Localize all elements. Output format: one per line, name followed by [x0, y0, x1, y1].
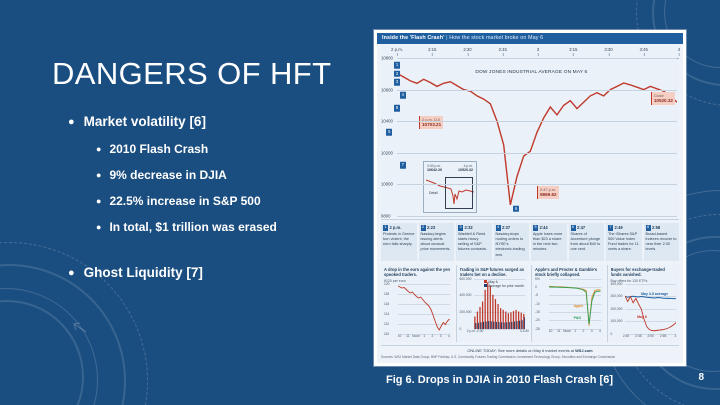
list-item: ● Ghost Liquidity [7] — [62, 265, 372, 280]
annotation-header: 22:23 — [421, 225, 453, 231]
y-tick-label: 110 — [384, 332, 389, 336]
decorative-circle — [0, 288, 98, 405]
y-tick-label: -20 — [535, 318, 540, 322]
y-tick-label: 114 — [384, 312, 389, 316]
sub-panel-x-axis: 2 p.m.-2:303-3:30 — [474, 329, 527, 336]
y-tick-label: 0 — [611, 332, 613, 336]
x-tick-label: 2:55 — [660, 334, 666, 338]
annotation-time: 2:47 — [577, 225, 585, 230]
bullet-dot-icon: ● — [96, 171, 101, 180]
x-tick-label: 11 — [406, 334, 409, 338]
gridline — [397, 153, 677, 154]
infographic-header-subtitle: How the stock market broke on May 6 — [449, 35, 543, 41]
list-item-label: 22.5% increase in S&P 500 — [109, 194, 372, 208]
x-tick-label: 2 — [583, 329, 585, 333]
y-tick-label: -15 — [535, 310, 540, 314]
sub-panel-x-axis: 1011Noon1234 — [549, 329, 602, 336]
sub-panel-plot: 400,000300,000200,000100,0000May 3-5 ave… — [611, 284, 678, 334]
annotation-card: 82:58Broad-based indexes recover to near… — [644, 223, 680, 261]
bullet-dot-icon: ● — [96, 223, 101, 232]
annotation-card: 32:32Waddell & Reed starts heavy selling… — [456, 223, 492, 261]
y-tick-label: 10200 — [381, 150, 393, 155]
x-tick-label: 2 p.m. — [391, 47, 403, 52]
footer-link: WSJ.com — [575, 348, 593, 353]
x-tick-label: 3 — [537, 47, 539, 52]
callout-close-value: 10520.32 — [654, 98, 673, 104]
y-tick-label: 100,000 — [611, 319, 623, 323]
bullet-dot-icon: ● — [68, 117, 75, 128]
list-item-label: In total, $1 trillion was erased — [109, 220, 372, 234]
annotation-card: 52:44Apple loses more than $23 a share i… — [531, 223, 567, 261]
y-tick-label: -5 — [535, 293, 538, 297]
legend: May 6Average for prior month — [484, 280, 524, 289]
sub-panel: Trading in S&P futures surged as traders… — [456, 265, 529, 342]
annotation-header: 72:49 — [608, 225, 640, 231]
sub-panel-title: A drop in the euro against the yen spook… — [384, 267, 451, 278]
chart-inset-detail: 3:30 p.m. 10642.20 4 p.m. 10520.32 Detai… — [423, 161, 477, 213]
inset-right-value: 10520.32 — [458, 168, 473, 172]
bullet-dot-icon: ● — [96, 197, 101, 206]
gridline — [397, 216, 677, 217]
x-tick-label: 2:45 — [499, 47, 507, 52]
sub-panel-plot: 120118116114112110 — [384, 284, 451, 334]
bullet-dot-icon: ● — [96, 145, 101, 154]
annotation-card: 12 p.m.Protests in Greece turn violent, … — [381, 223, 417, 261]
list-item: ● 9% decrease in DJIA — [62, 168, 372, 182]
y-tick-label: -25 — [535, 327, 540, 331]
x-tick-label: 2 p.m.-2:30 — [467, 329, 484, 333]
y-tick-label: 400,000 — [611, 282, 623, 286]
annotation-number: 5 — [533, 225, 538, 231]
y-tick-label: 0 — [460, 327, 462, 331]
x-tick-label: 1 — [574, 329, 576, 333]
chart-marker: 6 — [513, 206, 519, 213]
sub-panel-plot: 600,000400,000200,0000May 6Average for p… — [460, 279, 527, 329]
annotation-number: 7 — [608, 225, 613, 231]
annotation-body: Broad-based indexes recover to near thei… — [646, 232, 678, 253]
x-tick-label: 2:45 — [635, 334, 641, 338]
annotation-body: Shares of Accenture plunge from about $4… — [571, 232, 603, 253]
annotation-number: 3 — [458, 225, 463, 231]
annotation-time: 2:32 — [465, 225, 473, 230]
x-tick-label: 2:15 — [428, 47, 436, 52]
annotation-card: 62:47Shares of Accenture plunge from abo… — [569, 223, 605, 261]
list-item-label: 2010 Flash Crash — [109, 142, 372, 156]
list-item-label: 9% decrease in DJIA — [109, 168, 372, 182]
x-tick-label: 3 — [440, 334, 442, 338]
annotation-time: 2:23 — [427, 225, 435, 230]
list-item: ● In total, $1 trillion was erased — [62, 220, 372, 234]
sub-panel-x-axis: 2:402:452:502:553 — [625, 334, 678, 341]
series-annotation: Apple — [574, 304, 584, 308]
y-tick-label: 116 — [384, 302, 389, 306]
infographic-source: Sources: WSJ Market Data Group; BNP Pari… — [381, 355, 679, 359]
y-tick-label: 10600 — [381, 87, 393, 92]
figure-image: Inside the 'Flash Crash' | How the stock… — [374, 30, 686, 366]
x-tick-label: 4 — [678, 47, 680, 52]
infographic: Inside the 'Flash Crash' | How the stock… — [377, 33, 683, 363]
list-item: ● Market volatility [6] — [62, 114, 372, 129]
list-item-label: Market volatility [6] — [84, 114, 372, 129]
footer-note: ONLINE TODAY: See more details on May 6 … — [467, 348, 575, 353]
annotation-card: 72:49The iShares S&P 500 Value Index Fun… — [606, 223, 642, 261]
chart-marker: 5 — [386, 129, 392, 136]
annotation-time: 2:58 — [652, 225, 660, 230]
infographic-footer: ONLINE TODAY: See more details on May 6 … — [381, 345, 679, 353]
x-tick-label: 3:45 — [640, 47, 648, 52]
annotation-header: 32:32 — [458, 225, 490, 231]
decorative-arrow-icon — [60, 318, 90, 338]
chart-marker: 4 — [400, 92, 406, 99]
sub-panel-title: Apple's and Procter & Gamble's stock bri… — [535, 267, 602, 278]
annotation-number: 6 — [571, 225, 576, 231]
annotation-header: 52:44 — [533, 225, 565, 231]
infographic-header-title: Inside the 'Flash Crash' — [382, 35, 444, 41]
y-tick-label: 600,000 — [460, 277, 472, 281]
y-tick-label: 0 — [535, 285, 537, 289]
annotation-body: Waddell & Reed starts heavy selling of S… — [458, 232, 490, 253]
y-tick-label: 118 — [384, 292, 389, 296]
list-spacer — [62, 246, 372, 265]
chart-plot-area: DOW JONES INDUSTRIAL AVERAGE ON MAY 6 2 … — [397, 58, 677, 216]
y-tick-label: -10 — [535, 302, 540, 306]
sub-panel-x-axis: 1011Noon1234 — [398, 334, 451, 341]
x-tick-label: 4 — [448, 334, 450, 338]
legend-entry: Average for prior month — [484, 284, 524, 288]
djia-chart: 2 p.m.2:152:302:4533:153:303:454 DOW JON… — [381, 46, 679, 216]
y-tick-label: 300,000 — [611, 294, 623, 298]
inset-right-label: 4 p.m. 10520.32 — [458, 164, 473, 173]
chart-marker: 7 — [400, 162, 406, 169]
y-tick-label: 400,000 — [460, 293, 472, 297]
sub-panel-title: Buyers for exchange-traded funds vanishe… — [611, 267, 678, 278]
y-tick-label: 200,000 — [611, 307, 623, 311]
annotation-time: 2:37 — [502, 225, 510, 230]
y-tick-label: 10000 — [381, 182, 393, 187]
annotation-card: 42:37Nasdaq stops routing orders to NYSE… — [494, 223, 530, 261]
chart-marker: 8 — [394, 105, 400, 112]
x-tick-label: Noon — [412, 334, 420, 338]
sub-panel: Buyers for exchange-traded funds vanishe… — [607, 265, 680, 342]
sub-panel: A drop in the euro against the yen spook… — [381, 265, 453, 342]
list-item: ● 22.5% increase in S&P 500 — [62, 194, 372, 208]
x-tick-label: 10 — [549, 329, 553, 333]
y-tick-label: 120 — [384, 282, 390, 286]
x-tick-label: 2:50 — [648, 334, 654, 338]
annotation-header: 12 p.m. — [383, 225, 415, 231]
x-tick-label: 2 — [432, 334, 434, 338]
callout-open-value: 10703.21 — [422, 122, 441, 128]
chart-marker: 1 — [394, 62, 400, 69]
annotation-number: 1 — [383, 225, 388, 231]
x-tick-label: 3 — [675, 334, 677, 338]
callout-close-time: Close — [654, 93, 664, 98]
sub-panel-series — [398, 284, 450, 334]
presentation-slide: DANGERS OF HFT ● Market volatility [6] ●… — [0, 0, 720, 405]
callout-close: Close 10520.32 — [651, 92, 675, 105]
callout-low-value: 9869.62 — [540, 192, 557, 198]
x-tick-label: 3 — [591, 329, 593, 333]
inset-left-value: 10642.20 — [427, 168, 442, 172]
annotation-time: 2:49 — [615, 225, 623, 230]
annotation-body: Nasdaq stops routing orders to NYSE's el… — [496, 232, 528, 258]
annotation-card: 22:23Nasdaq begins issuing alerts about … — [419, 223, 455, 261]
gridline — [397, 184, 677, 185]
annotation-number: 4 — [496, 225, 501, 231]
sub-panels: A drop in the euro against the yen spook… — [381, 265, 679, 342]
sub-panel: Apple's and Procter & Gamble's stock bri… — [531, 265, 604, 342]
annotation-body: Protests in Greece turn violent, the eur… — [383, 232, 415, 247]
figure-caption: Fig 6. Drops in DJIA in 2010 Flash Crash… — [386, 374, 613, 386]
inset-left-label: 3:30 p.m. 10642.20 — [427, 164, 442, 173]
annotation-header: 62:47 — [571, 225, 603, 231]
list-item-label: Ghost Liquidity [7] — [84, 265, 372, 280]
annotation-number: 2 — [421, 225, 426, 231]
annotation-body: Nasdaq begins issuing alerts about unusu… — [421, 232, 453, 253]
infographic-header: Inside the 'Flash Crash' | How the stock… — [377, 33, 683, 44]
y-tick-label: 112 — [384, 322, 389, 326]
x-tick-label: Noon — [563, 329, 571, 333]
bullet-dot-icon: ● — [68, 268, 75, 279]
series-annotation: P&G — [574, 316, 582, 320]
series-annotation: May 3-5 average — [641, 292, 668, 296]
infographic-header-separator: | — [446, 35, 448, 41]
bullet-list: ● Market volatility [6] ● 2010 Flash Cra… — [62, 114, 372, 293]
gridline — [397, 58, 677, 59]
gridline — [397, 90, 677, 91]
gridline — [397, 121, 677, 122]
sub-panel-plot: 5%0-5-10-15-20-25AppleP&G — [535, 279, 602, 329]
x-tick-label: 2:40 — [623, 334, 629, 338]
page-number: 8 — [698, 372, 704, 383]
sub-panel-subtitle: ¥120 per euro — [384, 279, 451, 283]
y-tick-label: 9800 — [381, 214, 391, 219]
decorative-circle — [0, 300, 84, 405]
page-title: DANGERS OF HFT — [52, 56, 331, 92]
x-tick-label: 1 — [423, 334, 425, 338]
x-tick-label: 10 — [398, 334, 402, 338]
x-tick-label: 11 — [557, 329, 560, 333]
x-tick-label: 3:15 — [569, 47, 577, 52]
x-tick-label: 4 — [599, 329, 601, 333]
annotation-body: The iShares S&P 500 Value Index Fund tra… — [608, 232, 640, 253]
series-annotation: May 6 — [637, 315, 647, 319]
annotation-header: 42:37 — [496, 225, 528, 231]
annotation-time: 2 p.m. — [390, 225, 402, 230]
y-tick-label: 5% — [535, 277, 540, 281]
chart-marker: 2 — [394, 70, 400, 77]
annotation-body: Apple loses more than $23 a share in the… — [533, 232, 565, 253]
annotation-number: 8 — [646, 225, 651, 231]
chart-marker: 3 — [394, 79, 400, 86]
annotation-header: 82:58 — [646, 225, 678, 231]
x-tick-label: 3-3:30 — [520, 329, 529, 333]
y-tick-label: 10400 — [381, 119, 393, 124]
inset-zoom-box — [445, 177, 473, 209]
x-tick-label: 3:30 — [604, 47, 612, 52]
y-tick-label: 200,000 — [460, 310, 472, 314]
callout-open: 2 p.m. DJI 10703.21 — [419, 116, 443, 129]
callout-low-time: 2:47 p.m. — [540, 187, 556, 192]
y-tick-label: 10800 — [381, 56, 393, 61]
callout-low: 2:47 p.m. 9869.62 — [537, 186, 559, 199]
annotation-time: 2:44 — [540, 225, 548, 230]
x-tick-label: 2:30 — [463, 47, 471, 52]
list-item: ● 2010 Flash Crash — [62, 142, 372, 156]
annotation-strip: 12 p.m.Protests in Greece turn violent, … — [381, 219, 679, 261]
